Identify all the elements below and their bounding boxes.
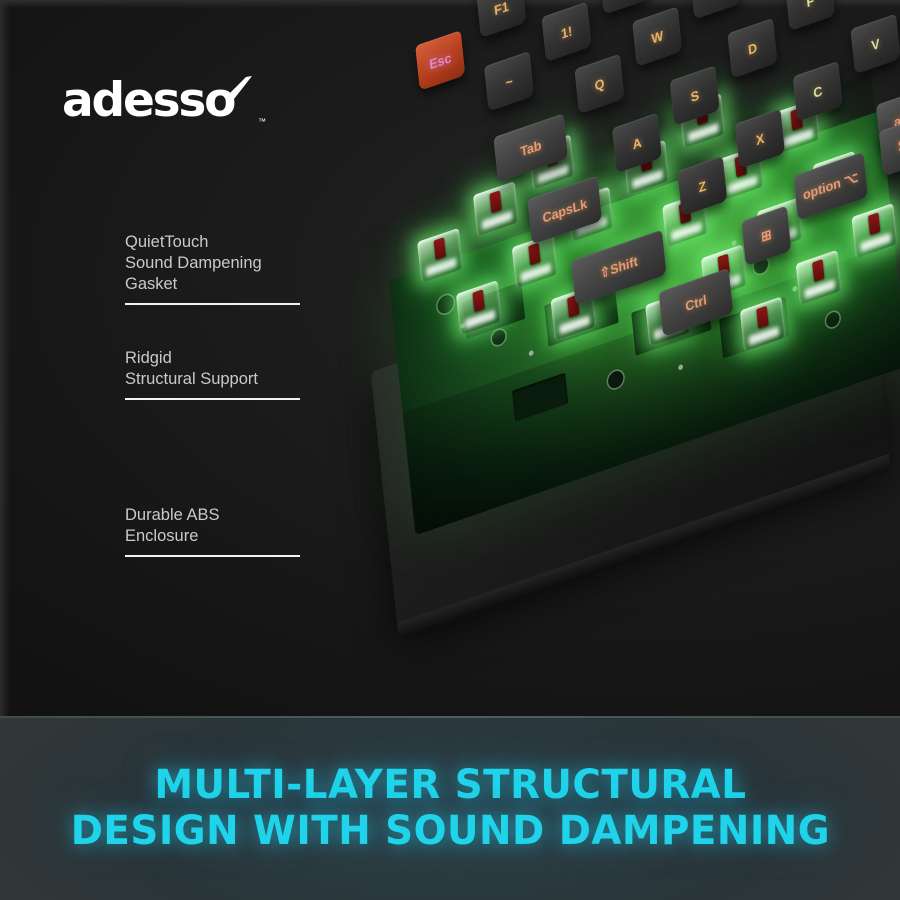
stage-edge-left	[0, 0, 10, 716]
headline-text: MULTI-LAYER STRUCTURAL DESIGN WITH SOUND…	[70, 762, 829, 854]
mechanical-switch	[851, 203, 897, 258]
brand-logo: adesso ™	[62, 72, 262, 130]
callout-rule	[125, 303, 300, 305]
keycap: C	[793, 61, 843, 122]
keycap: 2@	[599, 0, 649, 15]
product-poster: EscF1F2~1!2@3#4$TabQWERTCapsLkASDFGH⇧Shi…	[0, 0, 900, 900]
callout-rule	[125, 398, 300, 400]
keycap: 1!	[542, 2, 592, 63]
keycap: Esc	[415, 30, 465, 91]
keycap: ~	[484, 51, 534, 112]
callout-label: Durable ABS Enclosure	[125, 505, 355, 547]
mechanical-switch	[740, 296, 786, 351]
keycap: Tab	[493, 113, 568, 182]
keycap: W	[632, 6, 682, 67]
keycap: Q	[574, 54, 624, 115]
callout-ridgid-structural-support: Ridgid Structural Support	[125, 348, 355, 400]
keycap: S	[670, 65, 720, 126]
keycap: V	[850, 14, 900, 75]
callout-quiettouch-sound-dampening-gasket: QuietTouch Sound Dampening Gasket	[125, 232, 355, 305]
keycap: X	[735, 108, 785, 169]
keycap: E	[690, 0, 740, 20]
headline-banner: MULTI-LAYER STRUCTURAL DESIGN WITH SOUND…	[0, 716, 900, 900]
keycap: A	[612, 113, 662, 174]
callout-label: QuietTouch Sound Dampening Gasket	[125, 232, 355, 295]
keycap: F	[785, 0, 835, 31]
callout-durable-abs-enclosure: Durable ABS Enclosure	[125, 505, 355, 557]
keyboard-exploded-view: EscF1F2~1!2@3#4$TabQWERTCapsLkASDFGH⇧Shi…	[330, 0, 900, 600]
keycap: D	[727, 18, 777, 79]
callout-rule	[125, 555, 300, 557]
keycap: F1	[476, 0, 526, 38]
brand-logo-wordmark: adesso	[62, 73, 234, 128]
trademark-symbol: ™	[258, 117, 266, 126]
keycap: Z	[677, 156, 727, 217]
mechanical-switch	[796, 250, 842, 305]
product-stage: EscF1F2~1!2@3#4$TabQWERTCapsLkASDFGH⇧Shi…	[0, 0, 900, 716]
keycap: CapsLk	[527, 176, 602, 245]
callout-label: Ridgid Structural Support	[125, 348, 355, 390]
